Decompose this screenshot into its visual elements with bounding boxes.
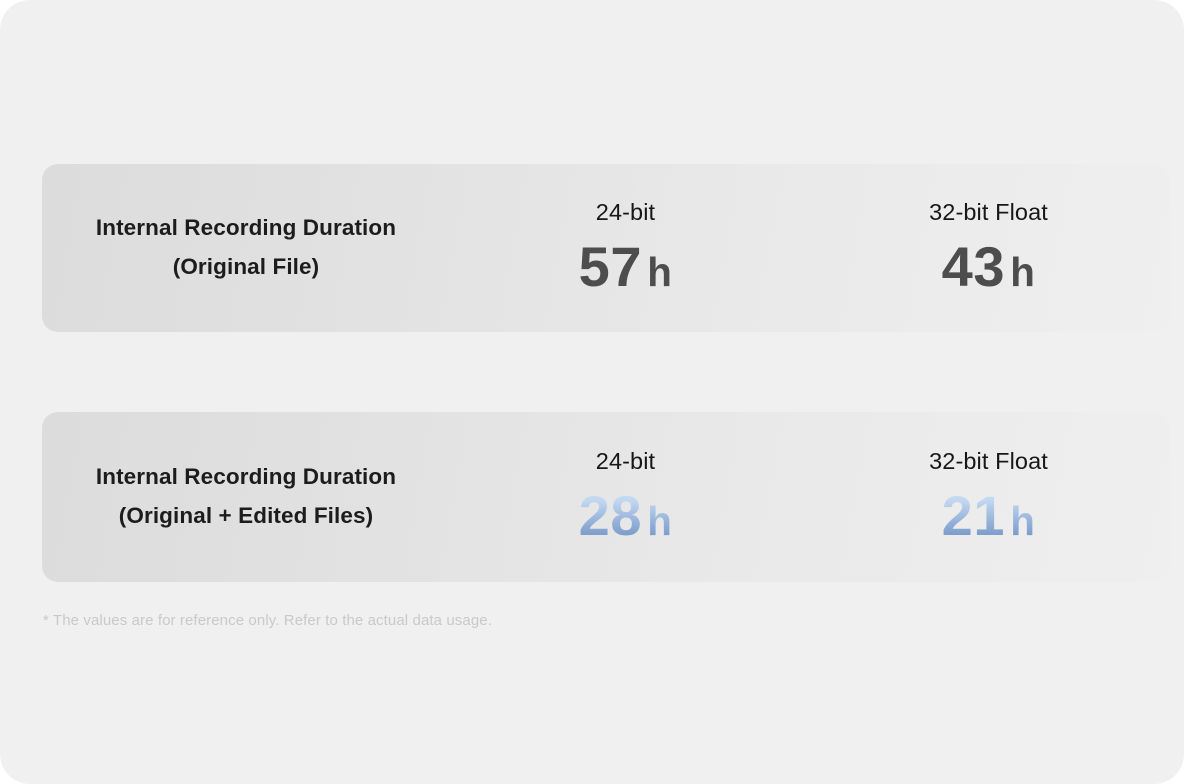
row-label-original-plus-edited: Internal Recording Duration (Original + …: [42, 458, 444, 535]
metric-unit: h: [647, 249, 672, 295]
spec-table: Internal Recording Duration (Original Fi…: [42, 0, 1170, 784]
metric-value-32bitfloat-original: 43h: [942, 239, 1036, 295]
metrics-group-original-file: 24-bit 57h 32-bit Float 43h: [444, 164, 1170, 332]
metric-unit: h: [1010, 249, 1035, 295]
page-frame: Internal Recording Duration (Original Fi…: [0, 0, 1184, 784]
row-label-original-file: Internal Recording Duration (Original Fi…: [42, 209, 444, 286]
metric-title-32bitfloat: 32-bit Float: [929, 201, 1048, 225]
row-label-line-2: (Original + Edited Files): [48, 497, 444, 536]
metric-value-24bit-original: 57h: [579, 239, 673, 295]
row-label-line-2: (Original File): [48, 248, 444, 287]
spec-row-original-file: Internal Recording Duration (Original Fi…: [42, 164, 1170, 332]
spec-row-original-plus-edited: Internal Recording Duration (Original + …: [42, 412, 1170, 582]
metric-title-24bit: 24-bit: [596, 450, 655, 474]
metric-title-24bit: 24-bit: [596, 201, 655, 225]
metric-unit: h: [1010, 498, 1035, 544]
metric-24bit-original: 24-bit 57h: [444, 201, 807, 295]
metric-number: 28: [579, 484, 642, 547]
row-label-line-1: Internal Recording Duration: [48, 209, 444, 248]
metric-number: 21: [942, 484, 1005, 547]
metric-32bitfloat-edited: 32-bit Float 21h: [807, 450, 1170, 544]
metric-24bit-edited: 24-bit 28h: [444, 450, 807, 544]
metrics-group-original-plus-edited: 24-bit 28h 32-bit Float 21h: [444, 412, 1170, 582]
metric-value-32bitfloat-edited: 21h: [942, 488, 1036, 544]
metric-unit: h: [647, 498, 672, 544]
metric-title-32bitfloat: 32-bit Float: [929, 450, 1048, 474]
metric-number: 57: [579, 235, 642, 298]
metric-number: 43: [942, 235, 1005, 298]
footnote-disclaimer: * The values are for reference only. Ref…: [43, 612, 492, 629]
metric-value-24bit-edited: 28h: [579, 488, 673, 544]
row-label-line-1: Internal Recording Duration: [48, 458, 444, 497]
metric-32bitfloat-original: 32-bit Float 43h: [807, 201, 1170, 295]
